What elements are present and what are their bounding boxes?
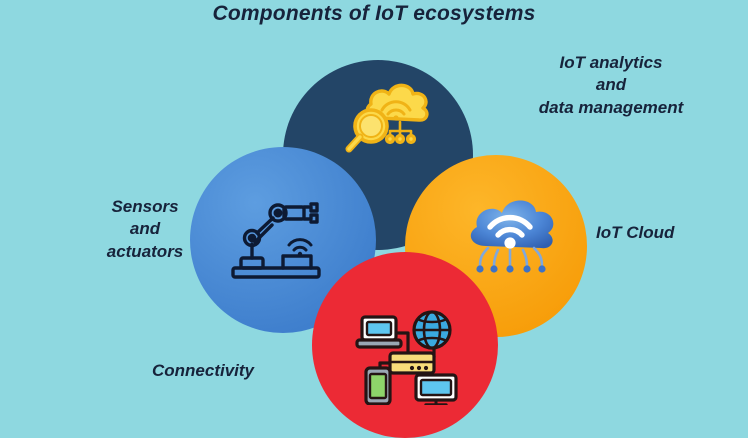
- label-iot-cloud: IoT Cloud: [596, 222, 746, 244]
- label-line: IoT Cloud: [596, 222, 746, 244]
- label-line: and: [70, 218, 220, 240]
- page-title: Components of IoT ecosystems: [0, 2, 748, 26]
- label-line: and: [470, 74, 748, 96]
- label-line: data management: [470, 97, 748, 119]
- connected-devices-network-icon: [352, 305, 464, 405]
- label-sensors-actuators: Sensors and actuators: [70, 196, 220, 263]
- cloud-wifi-nodes-icon: [456, 190, 562, 280]
- label-line: IoT analytics: [470, 52, 748, 74]
- label-line: Connectivity: [152, 360, 322, 382]
- label-line: actuators: [70, 241, 220, 263]
- cloud-analytics-magnifier-icon: [341, 74, 441, 158]
- robotic-arm-sensor-icon: [225, 194, 335, 284]
- label-line: Sensors: [70, 196, 220, 218]
- label-connectivity: Connectivity: [152, 360, 322, 382]
- infographic-canvas: Components of IoT ecosystems: [0, 0, 748, 420]
- label-iot-analytics: IoT analytics and data management: [470, 52, 748, 119]
